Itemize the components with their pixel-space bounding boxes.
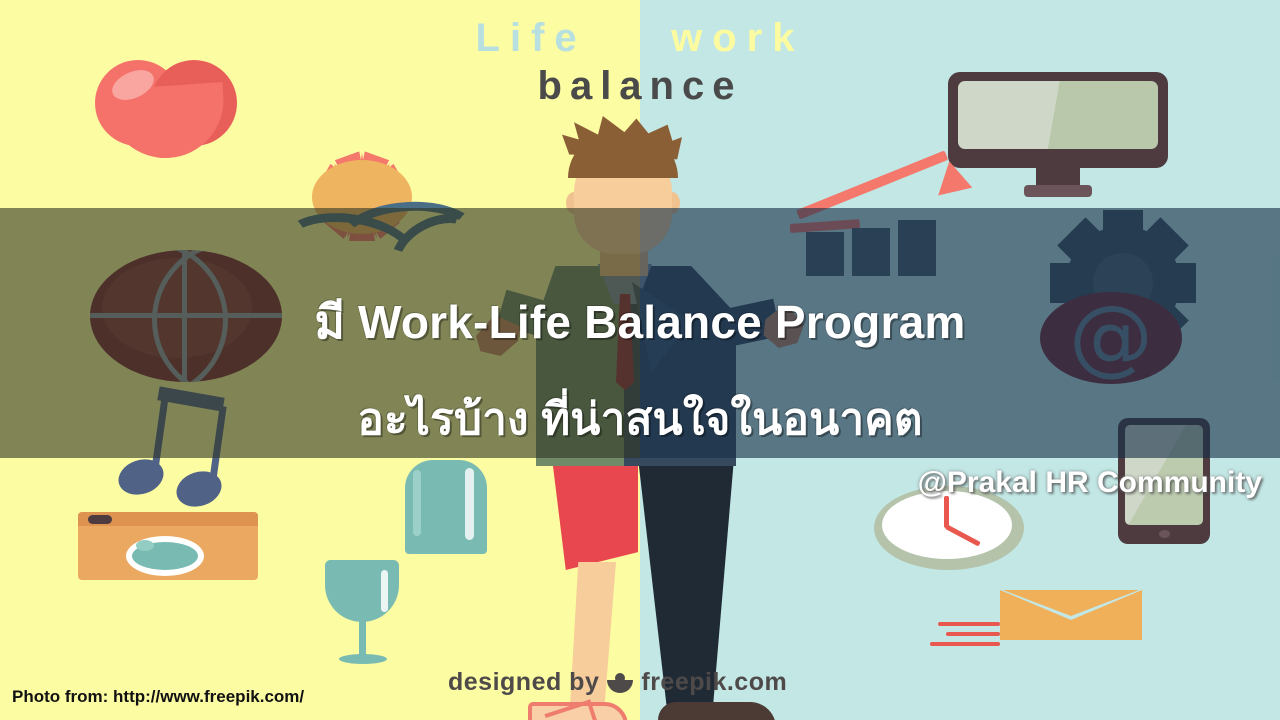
envelope-speed-line <box>946 632 1000 636</box>
caption-line-2: อะไรบ้าง ที่น่าสนใจในอนาคต <box>0 384 1280 454</box>
caption-line-1: มี Work-Life Balance Program <box>0 286 1280 359</box>
freepik-watermark: designed by freepik.com <box>448 668 787 697</box>
envelope-icon <box>1000 590 1142 640</box>
envelope-speed-line <box>938 622 1000 626</box>
person-shorts <box>552 458 638 570</box>
community-credit: @Prakal HR Community <box>918 466 1262 500</box>
poster-canvas: Life work balance <box>0 0 1280 720</box>
monitor-icon <box>948 72 1168 168</box>
heart-icon <box>95 60 240 165</box>
person-dress-shoe <box>658 702 776 720</box>
wine-glass-icon <box>325 560 399 670</box>
bottle-icon <box>405 460 487 554</box>
watermark-designed-by: designed by <box>448 668 599 697</box>
camera-icon <box>78 512 258 580</box>
photo-source-label: Photo from: http://www.freepik.com/ <box>12 687 304 707</box>
freepik-bird-icon <box>607 673 633 693</box>
watermark-site: freepik.com <box>641 668 787 697</box>
envelope-speed-line <box>930 642 1000 646</box>
caption-block: มี Work-Life Balance Program อะไรบ้าง ที… <box>0 208 1280 458</box>
